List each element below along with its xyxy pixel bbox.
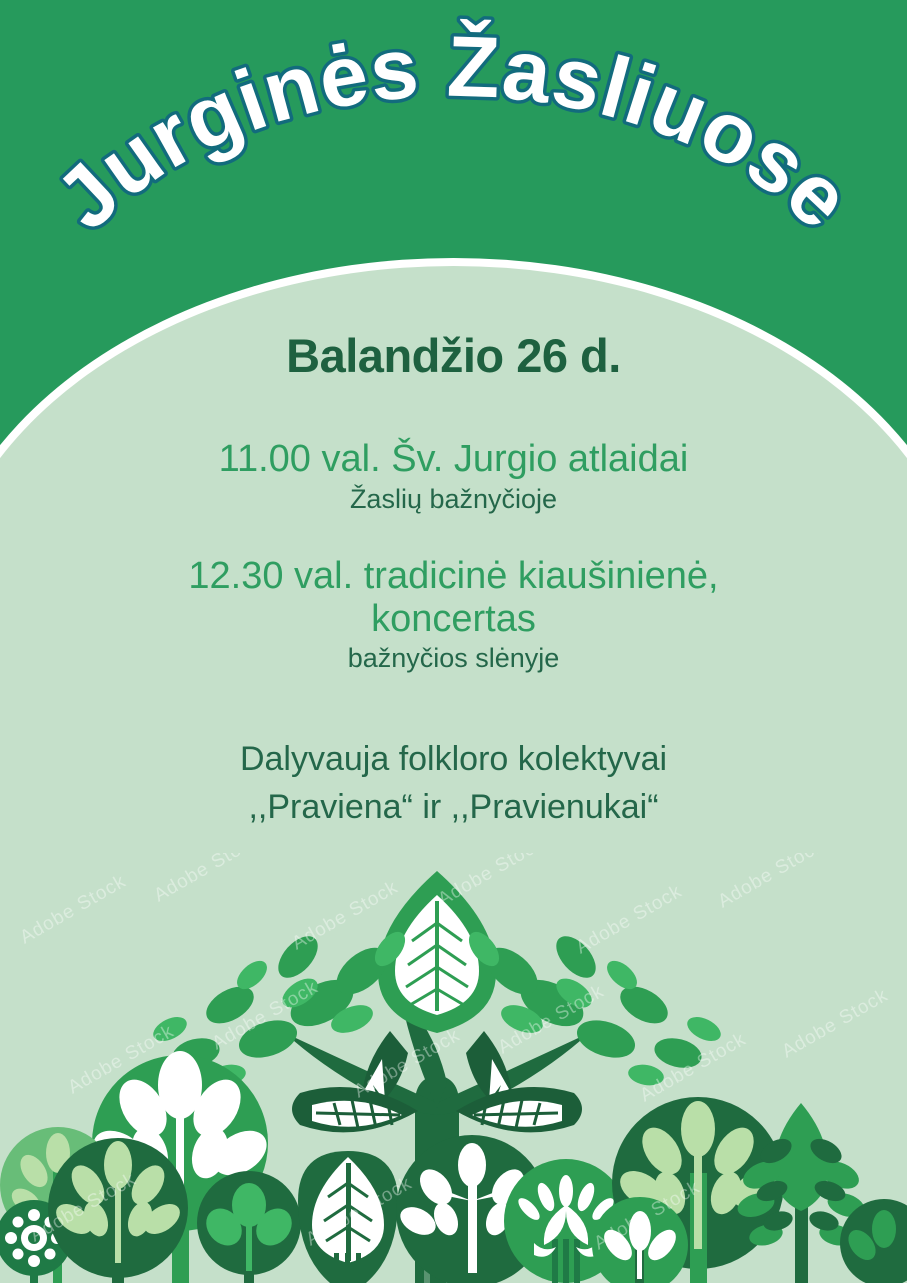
schedule-item-1-main: 11.00 val. Šv. Jurgio atlaidai <box>0 438 907 481</box>
schedule-item-2: 12.30 val. tradicinė kiaušinienė, koncer… <box>0 555 907 674</box>
forest-illustration: Adobe Stock Adobe Stock Adobe Stock Adob… <box>0 853 907 1283</box>
schedule-item-2-main-line1: 12.30 val. tradicinė kiaušinienė, <box>0 555 907 598</box>
event-date: Balandžio 26 d. <box>0 328 907 383</box>
tree-pointed-white-leaf <box>298 1151 398 1283</box>
tree-round-small-mid <box>197 1171 301 1283</box>
forest-trees <box>0 871 907 1283</box>
schedule-item-1-location: Žaslių bažnyčioje <box>0 484 907 515</box>
performers-line-2: ,,Praviena“ ir ,,Pravienukai“ <box>0 784 907 832</box>
poster-canvas: Jurginės Žasliuose Balandžio 26 d. 11.00… <box>0 0 907 1283</box>
schedule-item-1: 11.00 val. Šv. Jurgio atlaidai Žaslių ba… <box>0 438 907 515</box>
performers-block: Dalyvauja folkloro kolektyvai ,,Praviena… <box>0 736 907 831</box>
performers-line-1: Dalyvauja folkloro kolektyvai <box>0 736 907 784</box>
schedule-item-2-location: bažnyčios slėnyje <box>0 643 907 674</box>
tree-round-dark-leftmid <box>48 1138 188 1283</box>
forest-svg <box>0 853 907 1283</box>
schedule-item-2-main-line2: koncertas <box>0 598 907 641</box>
